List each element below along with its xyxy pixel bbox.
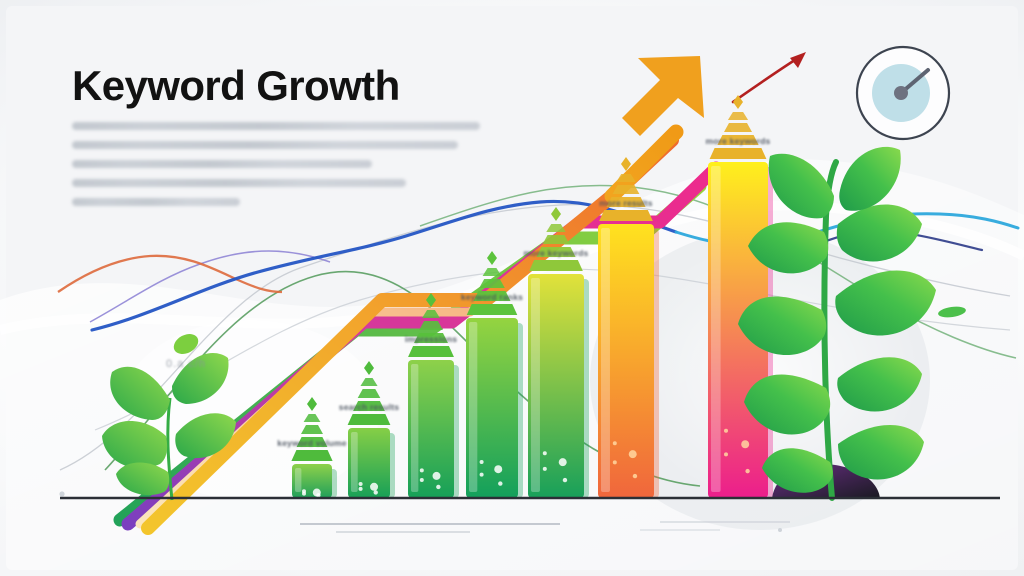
page-title: Keyword Growth xyxy=(72,64,502,108)
body-line: search intent by phrase topic tracking f… xyxy=(72,160,372,168)
body-line: performance and ranking improvements dri… xyxy=(72,179,406,187)
header-block: Keyword Growth Keyword research measurem… xyxy=(72,64,502,206)
infographic-canvas: keyword volumesearch resultsimpressionsk… xyxy=(0,0,1024,576)
gauge-icon[interactable] xyxy=(857,47,949,139)
body-line: Keyword research measurement increasing … xyxy=(72,122,480,130)
left-annotation: 0.a c/h xyxy=(166,358,206,370)
body-line: steady organic growth metrics. xyxy=(72,198,240,206)
body-line: organic traffic for targeted keyword ove… xyxy=(72,141,458,149)
